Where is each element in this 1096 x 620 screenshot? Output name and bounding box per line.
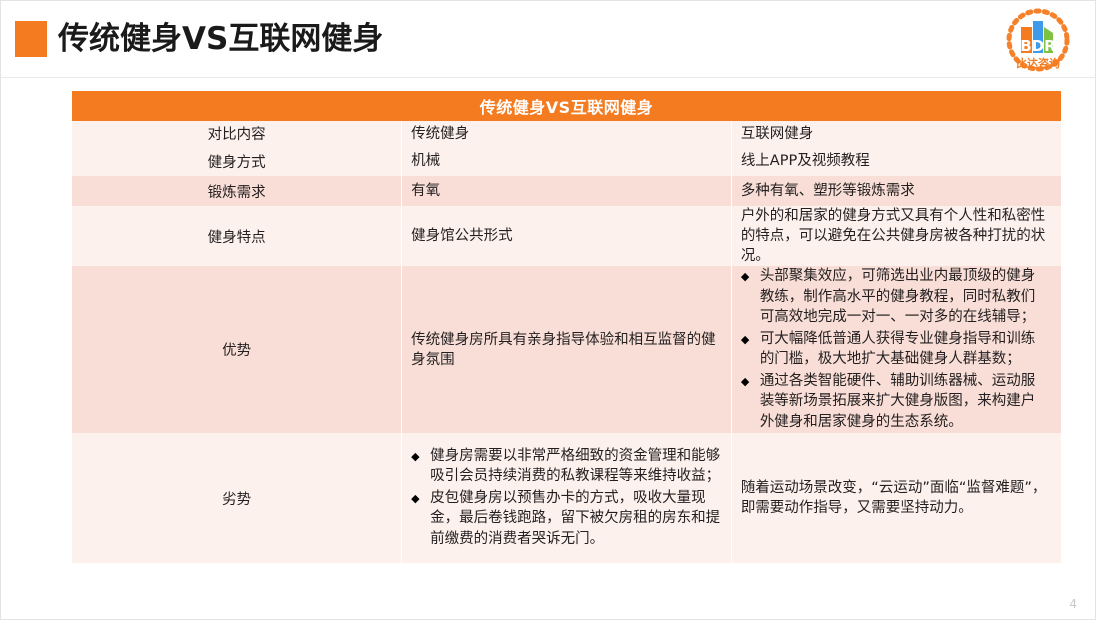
list-item: 通过各类智能硬件、辅助训练器械、运动服装等新场景拓展来扩大健身版图，来构建户外健… [741, 371, 1049, 433]
row-internet-mode: 线上APP及视频教程 [731, 146, 1061, 176]
table-banner-row: 传统健身VS互联网健身 [72, 91, 1061, 121]
table-banner-title: 传统健身VS互联网健身 [72, 91, 1061, 121]
header-col-traditional: 传统健身 [402, 121, 732, 146]
table-header-row: 对比内容 传统健身 互联网健身 [72, 121, 1061, 146]
table-row: 健身特点 健身馆公共形式 户外的和居家的健身方式又具有个人性和私密性的特点，可以… [72, 206, 1061, 266]
table-row: 优势 传统健身房所具有亲身指导体验和相互监督的健身氛围 头部聚集效应，可筛选出业… [72, 266, 1061, 433]
list-item: 皮包健身房以预售办卡的方式，吸收大量现金，最后卷钱跑路，留下被欠房租的房东和提前… [411, 488, 723, 550]
row-label-mode: 健身方式 [72, 146, 402, 176]
slide-canvas: 传统健身VS互联网健身 BDR 比达咨询 传统健身VS互联网健身 对比内容 传 [0, 0, 1096, 620]
header-col-label: 对比内容 [72, 121, 402, 146]
row-traditional-mode: 机械 [402, 146, 732, 176]
list-item: 头部聚集效应，可筛选出业内最顶级的健身教练，制作高水平的健身教程，同时私教们可高… [741, 266, 1049, 328]
row-internet-feature: 户外的和居家的健身方式又具有个人性和私密性的特点，可以避免在公共健身房被各种打扰… [731, 206, 1061, 266]
page-title: 传统健身VS互联网健身 [58, 17, 383, 61]
row-label-need: 锻炼需求 [72, 176, 402, 206]
cons-bullet-list: 健身房需要以非常严格细致的资金管理和能够吸引会员持续消费的私教课程等来维持收益；… [411, 446, 723, 550]
table-row: 锻炼需求 有氧 多种有氧、塑形等锻炼需求 [72, 176, 1061, 206]
row-internet-pros: 头部聚集效应，可筛选出业内最顶级的健身教练，制作高水平的健身教程，同时私教们可高… [731, 266, 1061, 433]
list-item: 可大幅降低普通人获得专业健身指导和训练的门槛，极大地扩大基础健身人群基数； [741, 329, 1049, 370]
row-label-pros: 优势 [72, 266, 402, 433]
list-item: 健身房需要以非常严格细致的资金管理和能够吸引会员持续消费的私教课程等来维持收益； [411, 446, 723, 487]
row-traditional-feature: 健身馆公共形式 [402, 206, 732, 266]
logo-chinese: 比达咨询 [1016, 56, 1060, 70]
comparison-table: 传统健身VS互联网健身 对比内容 传统健身 互联网健身 健身方式 机械 线上AP… [72, 91, 1061, 563]
table-row: 健身方式 机械 线上APP及视频教程 [72, 146, 1061, 176]
bdr-logo: BDR 比达咨询 [995, 7, 1081, 79]
row-traditional-pros: 传统健身房所具有亲身指导体验和相互监督的健身氛围 [402, 266, 732, 433]
row-traditional-need: 有氧 [402, 176, 732, 206]
title-accent-square [15, 21, 47, 57]
row-label-cons: 劣势 [72, 433, 402, 563]
row-internet-cons: 随着运动场景改变，“云运动”面临“监督难题”，即需要动作指导，又需要坚持动力。 [731, 433, 1061, 563]
slide-title-bar: 传统健身VS互联网健身 [1, 1, 1096, 77]
row-traditional-cons: 健身房需要以非常严格细致的资金管理和能够吸引会员持续消费的私教课程等来维持收益；… [402, 433, 732, 563]
title-divider [1, 77, 1096, 78]
row-label-feature: 健身特点 [72, 206, 402, 266]
header-col-internet: 互联网健身 [731, 121, 1061, 146]
table-row: 劣势 健身房需要以非常严格细致的资金管理和能够吸引会员持续消费的私教课程等来维持… [72, 433, 1061, 563]
logo-initials: BDR [1020, 37, 1056, 55]
page-number: 4 [1069, 597, 1077, 611]
row-internet-need: 多种有氧、塑形等锻炼需求 [731, 176, 1061, 206]
pros-bullet-list: 头部聚集效应，可筛选出业内最顶级的健身教练，制作高水平的健身教程，同时私教们可高… [741, 266, 1049, 432]
